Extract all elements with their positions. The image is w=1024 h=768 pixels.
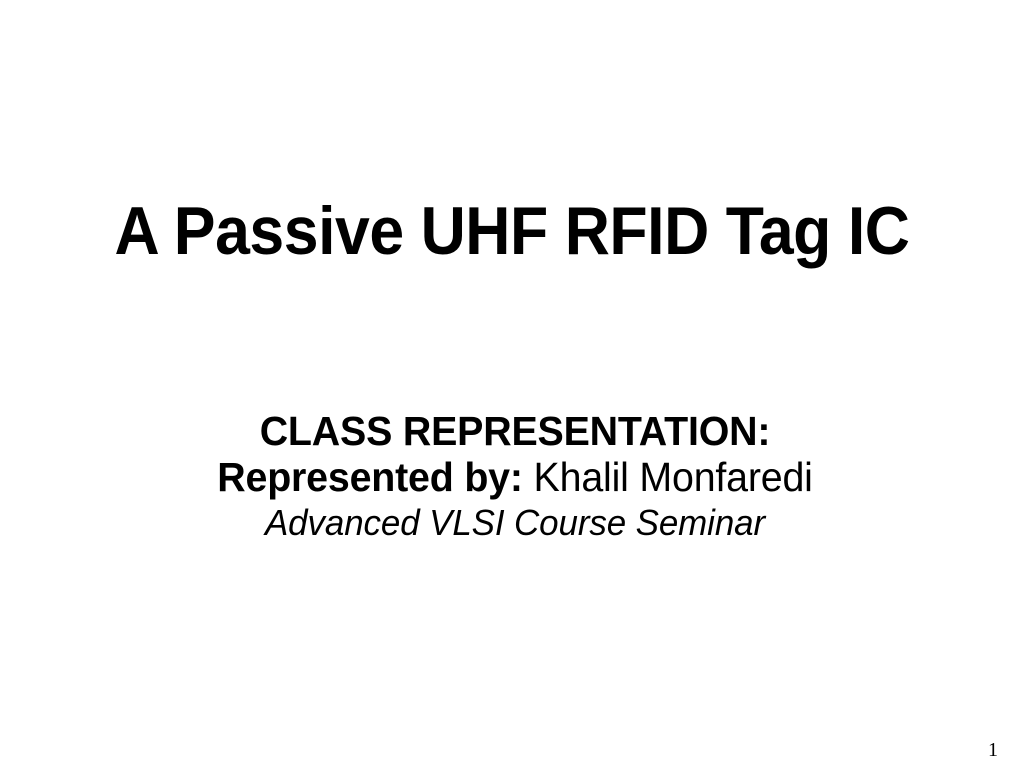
presenter-label: Represented by: bbox=[217, 454, 523, 500]
slide-canvas: A Passive UHF RFID Tag IC CLASS REPRESEN… bbox=[0, 0, 1024, 768]
presenter-name: Khalil Monfaredi bbox=[534, 454, 813, 500]
page-number: 1 bbox=[962, 739, 998, 761]
title-block: A Passive UHF RFID Tag IC bbox=[60, 196, 964, 267]
course-subtitle: Advanced VLSI Course Seminar bbox=[69, 500, 961, 546]
presenter-line: Represented by: Khalil Monfaredi bbox=[73, 454, 956, 500]
class-representation-heading: CLASS REPRESENTATION: bbox=[73, 408, 956, 454]
subtitle-block: CLASS REPRESENTATION: Represented by: Kh… bbox=[55, 408, 975, 546]
page-title: A Passive UHF RFID Tag IC bbox=[96, 196, 928, 267]
